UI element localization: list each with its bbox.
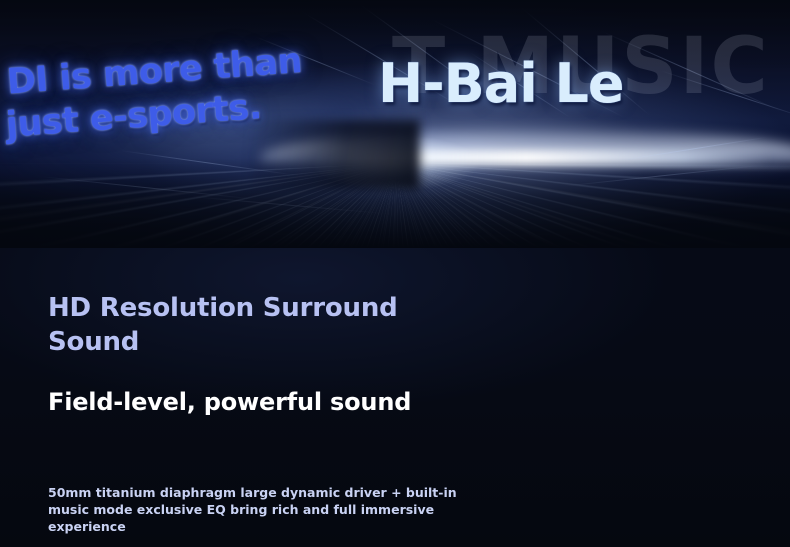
hero-light-rays-secondary	[0, 163, 790, 248]
feature-subheadline: Field-level, powerful sound	[48, 387, 648, 417]
feature-headline: HD Resolution Surround Sound	[48, 291, 478, 359]
hero-brand-title: H-Bai Le	[378, 55, 624, 113]
product-feature-page: T MUSIC DI is more than just e-sports. H…	[0, 0, 790, 547]
hero-dark-wedge	[250, 120, 420, 190]
hero-tagline: DI is more than just e-sports.	[5, 35, 380, 148]
hero-banner: T MUSIC DI is more than just e-sports. H…	[0, 0, 790, 248]
hero-horizon-glow	[260, 128, 790, 172]
hero-light-rays	[0, 163, 790, 248]
feature-description: 50mm titanium diaphragm large dynamic dr…	[48, 484, 468, 535]
hero-horizon-core	[330, 150, 770, 166]
hero-bottom-fade	[0, 158, 790, 248]
content-section: HD Resolution Surround Sound Field-level…	[0, 248, 790, 547]
